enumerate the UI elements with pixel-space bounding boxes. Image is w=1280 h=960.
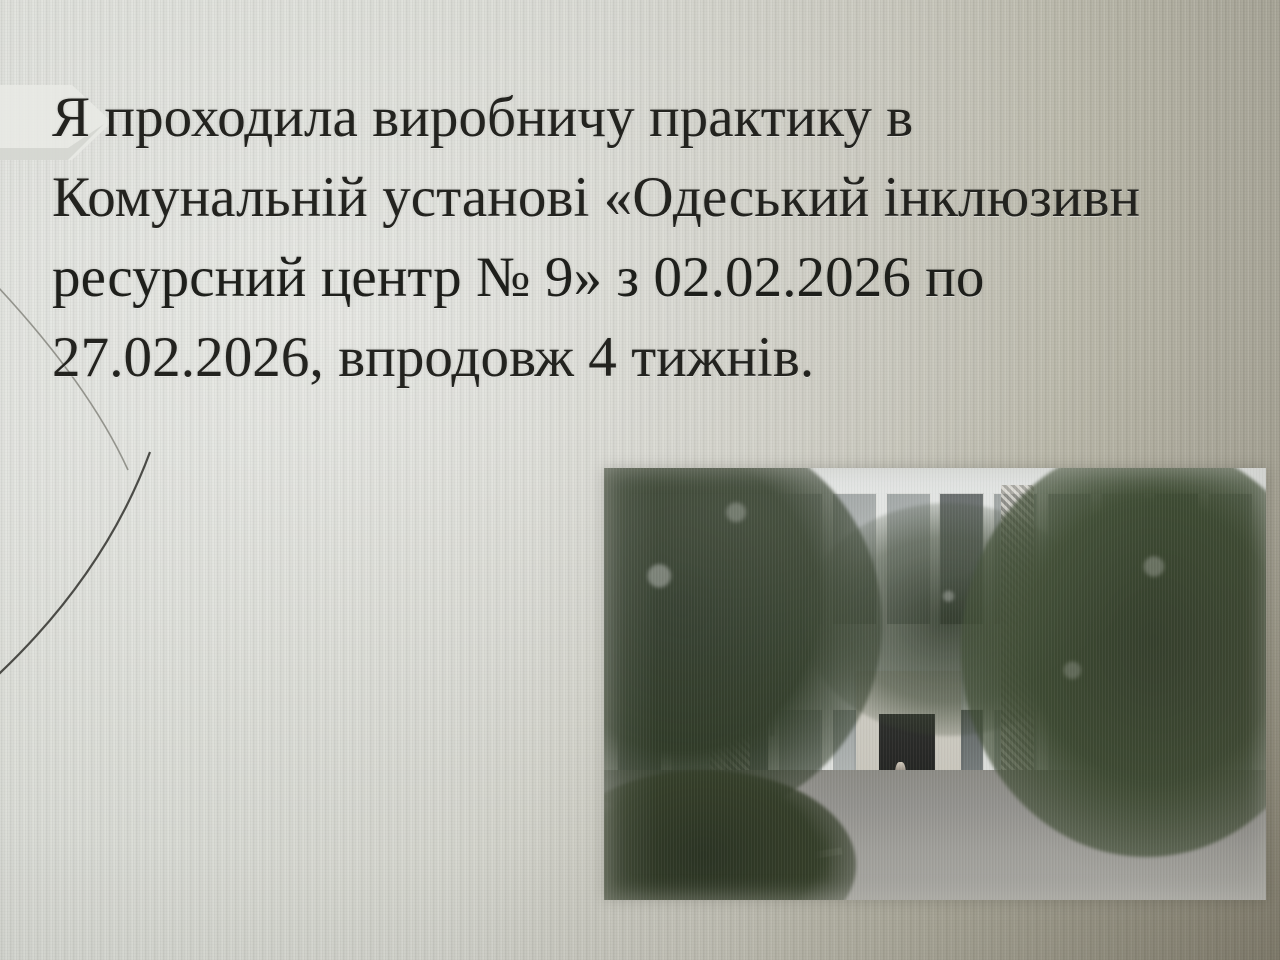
slide-text-line-4: 27.02.2026, впродовж 4 тижнів. xyxy=(52,318,1280,398)
slide-text-line-2: Комунальній установі «Одеський інклюзивн xyxy=(52,158,1280,238)
slide-text-line-1: Я проходила виробничу практику в xyxy=(52,78,1280,158)
slide-photograph: Я проходила виробничу практику в Комунал… xyxy=(0,0,1280,960)
slide-text-line-3: ресурсний центр № 9» з 02.02.2026 по xyxy=(52,238,1280,318)
slide-body-text: Я проходила виробничу практику в Комунал… xyxy=(52,78,1280,398)
institution-photo xyxy=(604,468,1266,900)
